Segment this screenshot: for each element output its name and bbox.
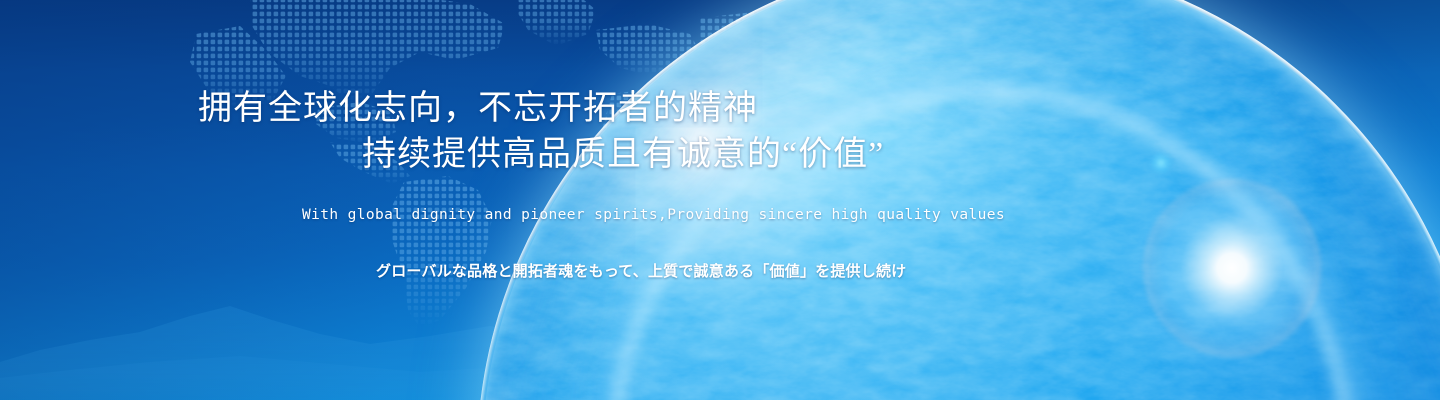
subtitle-english: With global dignity and pioneer spirits,… [302,207,1005,223]
hero-banner: 拥有全球化志向，不忘开拓者的精神 持续提供高品质且有诚意的“价值” With g… [0,0,1440,400]
lens-flare-dot [1148,150,1174,176]
subtitle-japanese: グローバルな品格と開拓者魂をもって、上質で誠意ある「価値」を提供し続け [376,260,906,281]
headline-line-2: 持续提供高品质且有诚意的“价值” [362,138,884,172]
banner-copy: 拥有全球化志向，不忘开拓者的精神 持续提供高品质且有诚意的“价值” With g… [0,0,1130,400]
sun-flare [1232,268,1234,270]
headline-line-1: 拥有全球化志向，不忘开拓者的精神 [198,92,758,126]
